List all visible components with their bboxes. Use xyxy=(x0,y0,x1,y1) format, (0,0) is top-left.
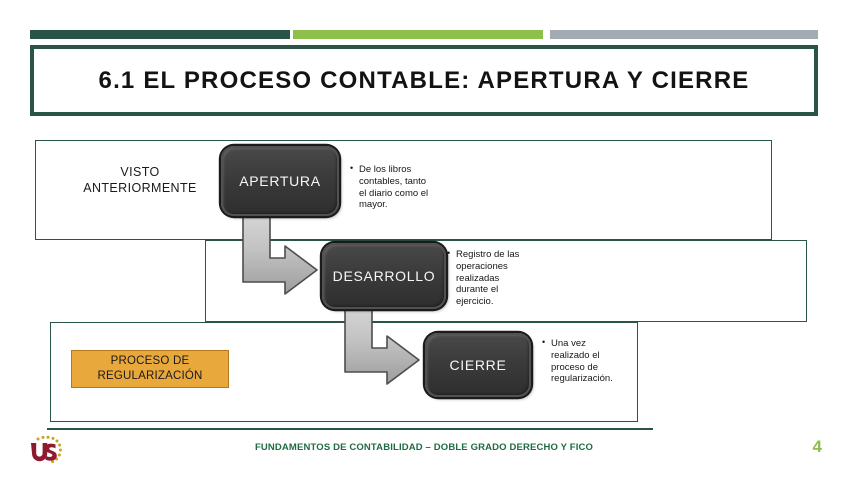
page-number: 4 xyxy=(813,437,822,457)
process-box-apertura-label: APERTURA xyxy=(239,173,321,189)
bullets-apertura: De los libros contables, tanto el diario… xyxy=(350,164,432,211)
title-frame: 6.1 EL PROCESO CONTABLE: APERTURA Y CIER… xyxy=(30,45,818,116)
footer-text: FUNDAMENTOS DE CONTABILIDAD – DOBLE GRAD… xyxy=(0,442,848,453)
title-inner: 6.1 EL PROCESO CONTABLE: APERTURA Y CIER… xyxy=(34,49,814,112)
proceso-regularizacion-text: PROCESO DE REGULARIZACIÓN xyxy=(97,354,202,384)
bullets-desarrollo: Registro de las operaciones realizadas d… xyxy=(447,249,531,308)
process-box-cierre-label: CIERRE xyxy=(449,357,506,373)
top-bar-gray xyxy=(550,30,818,39)
visto-line-1: VISTO xyxy=(60,164,220,180)
slide-canvas: 6.1 EL PROCESO CONTABLE: APERTURA Y CIER… xyxy=(0,0,848,477)
top-bar-light-green xyxy=(293,30,543,39)
proceso-regularizacion-box: PROCESO DE REGULARIZACIÓN xyxy=(71,350,229,388)
footer-divider xyxy=(47,428,653,430)
process-box-desarrollo-label: DESARROLLO xyxy=(333,268,436,284)
process-box-cierre[interactable]: CIERRE xyxy=(425,333,531,397)
process-box-apertura[interactable]: APERTURA xyxy=(221,146,339,216)
bullet-item: De los libros contables, tanto el diario… xyxy=(359,164,432,211)
regularizacion-line-1: PROCESO DE xyxy=(97,354,202,369)
bullet-item: Registro de las operaciones realizadas d… xyxy=(456,249,531,308)
process-box-desarrollo[interactable]: DESARROLLO xyxy=(322,243,446,309)
bullets-cierre: Una vez realizado el proceso de regulari… xyxy=(542,338,624,385)
visto-anteriormente-label: VISTO ANTERIORMENTE xyxy=(60,164,220,196)
top-bar-dark-green xyxy=(30,30,290,39)
page-title: 6.1 EL PROCESO CONTABLE: APERTURA Y CIER… xyxy=(99,67,750,95)
regularizacion-line-2: REGULARIZACIÓN xyxy=(97,369,202,384)
bullet-item: Una vez realizado el proceso de regulari… xyxy=(551,338,624,385)
visto-line-2: ANTERIORMENTE xyxy=(60,180,220,196)
